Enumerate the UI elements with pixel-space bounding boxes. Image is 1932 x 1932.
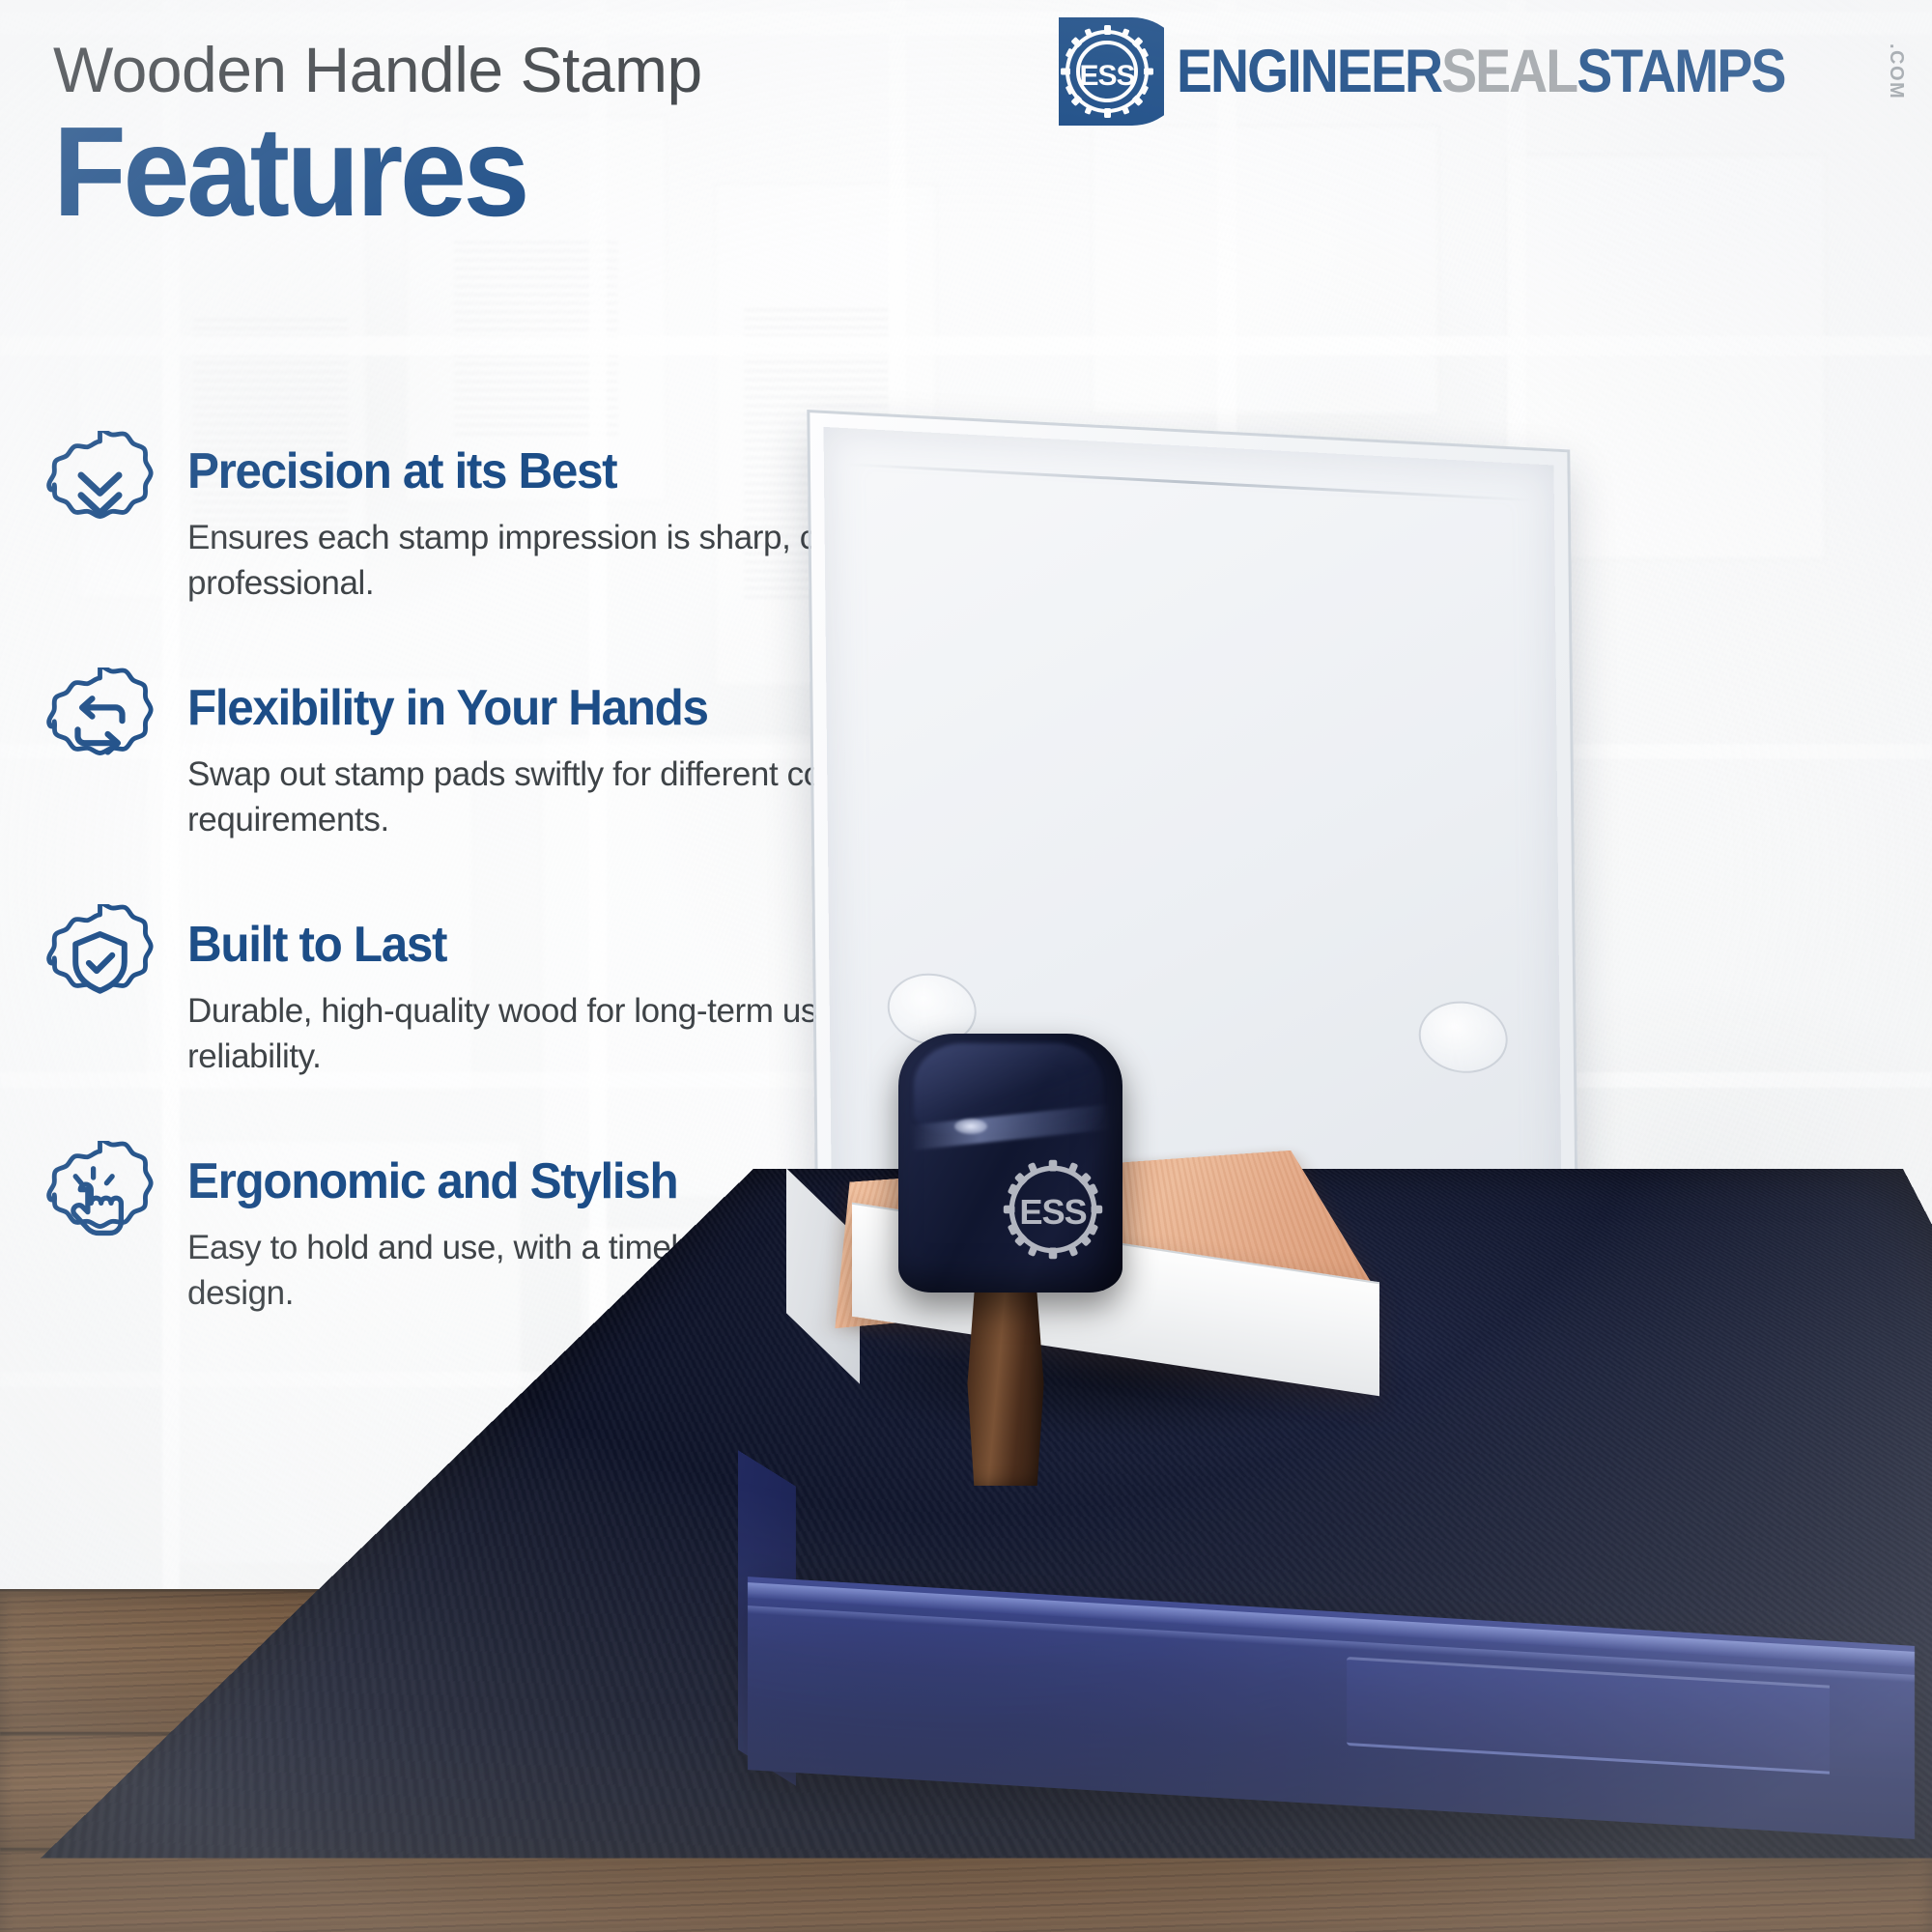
- tap-hand-badge-icon: [44, 1141, 156, 1252]
- swap-arrows-badge-icon: [44, 668, 156, 779]
- brand-word-seal: SEAL: [1441, 42, 1577, 102]
- stamp-handle-knob: ESS: [898, 1034, 1122, 1293]
- handle-ess-gear-logo-icon: ESS: [991, 1148, 1115, 1271]
- wooden-stamp: ESS: [840, 1014, 1439, 1430]
- infographic-canvas: Wooden Handle Stamp Features: [0, 0, 1932, 1932]
- stamp-handle-stem: [964, 1273, 1047, 1486]
- svg-text:ESS: ESS: [1019, 1192, 1086, 1232]
- brand-word-engineer: ENGINEER: [1177, 42, 1441, 102]
- header-block: Wooden Handle Stamp Features: [53, 37, 1164, 233]
- lid-seam: [845, 463, 1533, 501]
- chevron-double-down-badge-icon: [44, 431, 156, 542]
- page-title: Features: [53, 111, 1097, 234]
- ess-gear-badge-icon: ESS: [1046, 14, 1164, 129]
- product-photo: ESS: [927, 502, 1932, 1913]
- knob-specular-glint: [954, 1119, 987, 1134]
- box-front-thumb-notch: [1347, 1657, 1830, 1775]
- page-subtitle: Wooden Handle Stamp: [53, 37, 1164, 103]
- brand-word-stamps: STAMPS: [1577, 42, 1784, 102]
- svg-text:ESS: ESS: [1079, 60, 1134, 92]
- brand-dotcom-suffix: .COM: [1885, 43, 1907, 99]
- shield-check-badge-icon: [44, 904, 156, 1015]
- brand-logo[interactable]: ESS ENGINEER SEAL STAMPS .COM: [1046, 14, 1907, 129]
- brand-wordmark: ENGINEER SEAL STAMPS: [1177, 42, 1785, 102]
